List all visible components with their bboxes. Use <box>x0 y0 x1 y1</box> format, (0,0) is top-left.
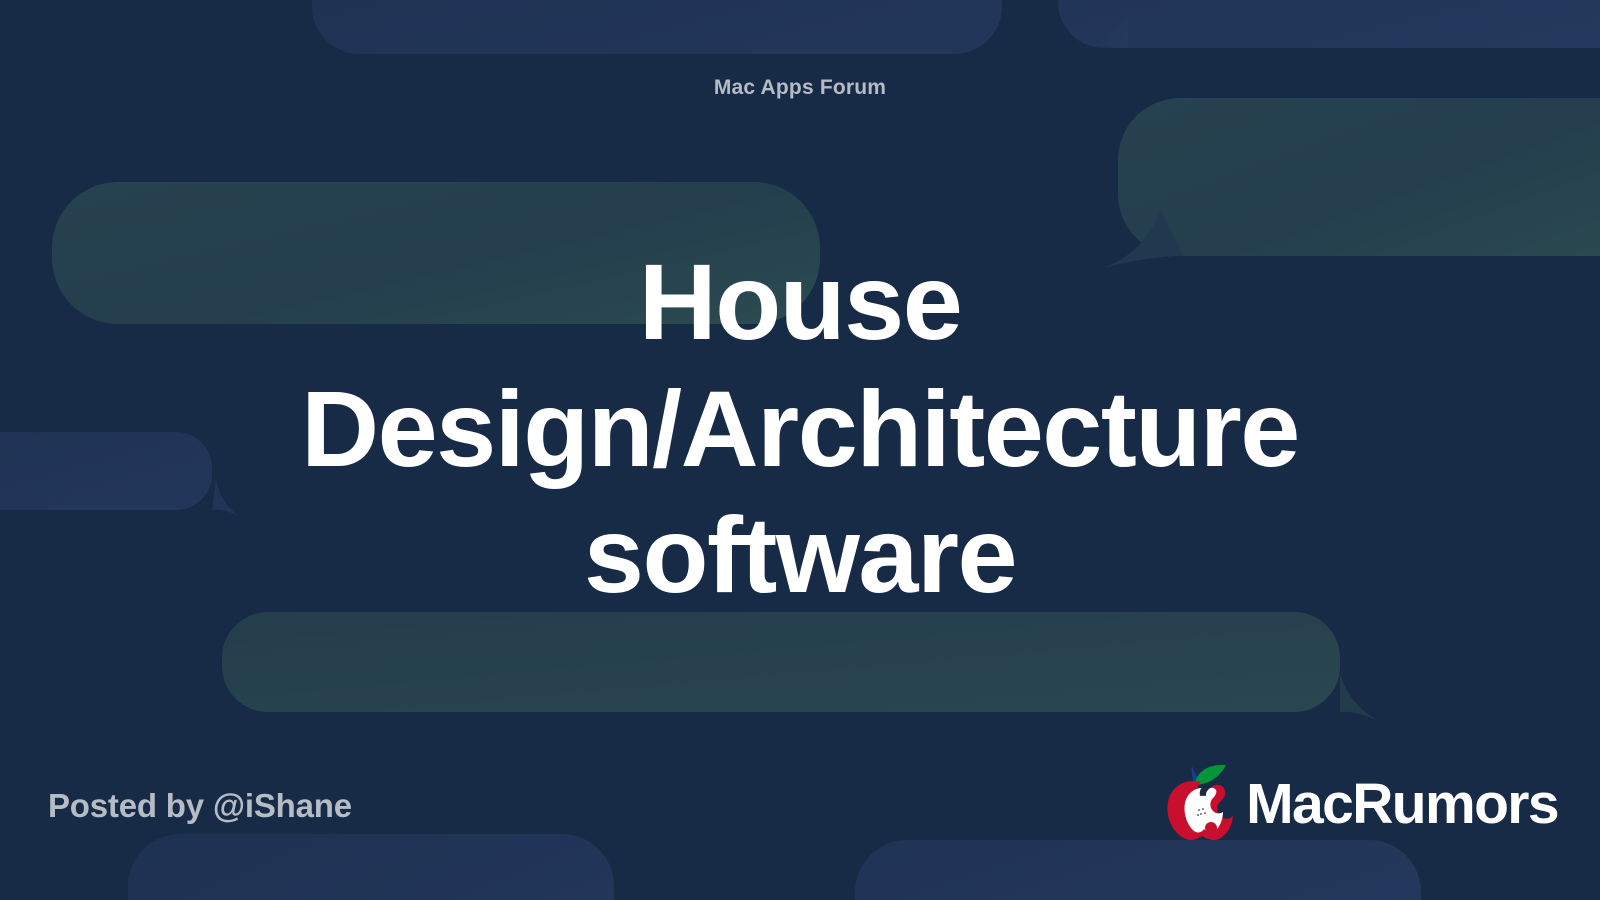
brand-wordmark: MacRumors <box>1246 776 1558 833</box>
macrumors-logo: MacRumors <box>1164 762 1558 842</box>
posted-by-label: Posted by @iShane <box>48 787 352 825</box>
forum-label: Mac Apps Forum <box>0 76 1600 100</box>
card-content: Mac Apps Forum House Design/Architecture… <box>0 0 1600 900</box>
question-dot-icon <box>1205 822 1217 834</box>
forum-share-card: Mac Apps Forum House Design/Architecture… <box>0 0 1600 900</box>
title-container: House Design/Architecture software <box>50 214 1550 644</box>
macrumors-apple-icon <box>1164 762 1240 842</box>
page-title: House Design/Architecture software <box>220 239 1380 618</box>
